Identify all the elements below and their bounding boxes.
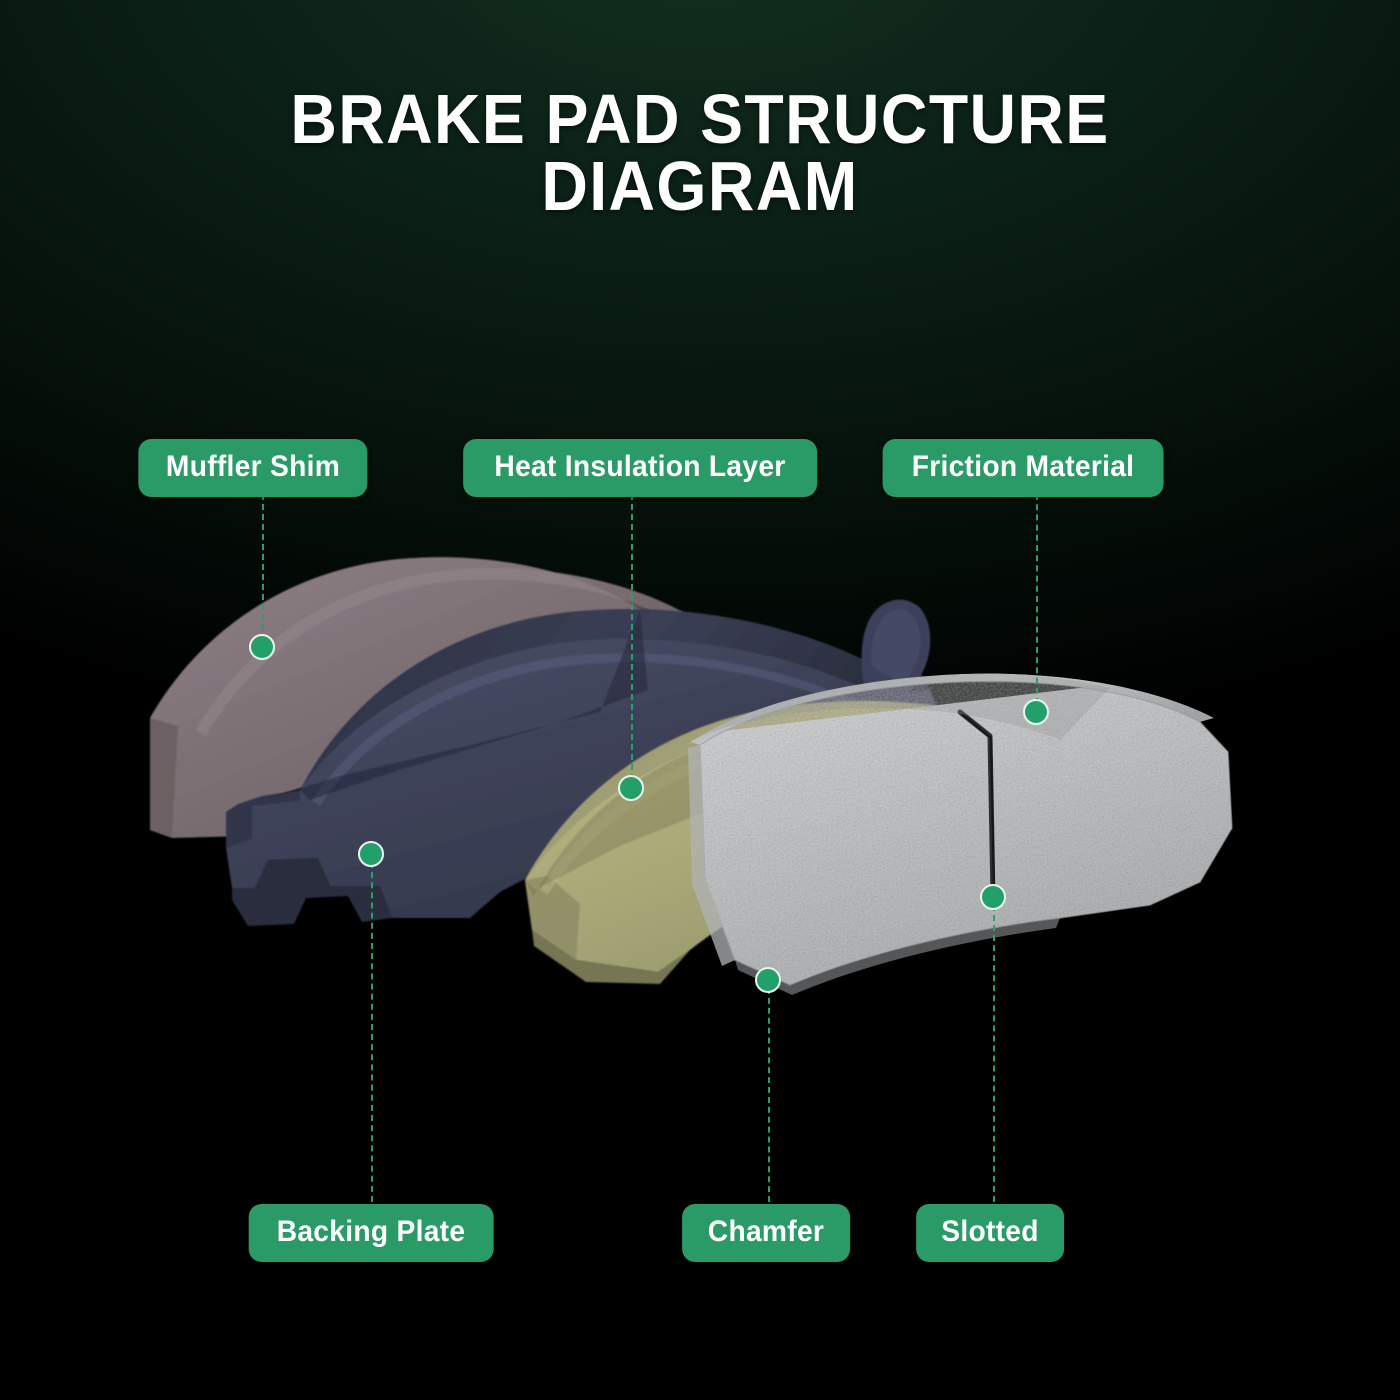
label-backing-plate[interactable]: Backing Plate — [249, 1204, 494, 1262]
label-text-friction-material: Friction Material — [912, 452, 1135, 482]
connector-friction-material — [1036, 494, 1038, 704]
title-line-1: BRAKE PAD STRUCTURE — [56, 86, 1344, 153]
page-title: BRAKE PAD STRUCTURE DIAGRAM — [0, 86, 1400, 219]
label-heat-insulation-layer[interactable]: Heat Insulation Layer — [463, 439, 817, 497]
callout-dot-heat-insulation-layer[interactable] — [618, 775, 644, 801]
connector-backing-plate — [371, 862, 373, 1202]
brake-pad-structure-diagram: BRAKE PAD STRUCTURE DIAGRAM — [0, 0, 1400, 1400]
callout-dot-friction-material[interactable] — [1023, 699, 1049, 725]
callout-dot-muffler-shim[interactable] — [249, 634, 275, 660]
label-muffler-shim[interactable]: Muffler Shim — [138, 439, 367, 497]
connector-muffler-shim — [262, 494, 264, 640]
connector-slotted — [993, 905, 995, 1202]
callout-dot-backing-plate[interactable] — [358, 841, 384, 867]
label-slotted[interactable]: Slotted — [916, 1204, 1064, 1262]
label-text-heat-insulation-layer: Heat Insulation Layer — [494, 452, 785, 482]
label-text-chamfer: Chamfer — [708, 1217, 824, 1247]
label-text-backing-plate: Backing Plate — [277, 1217, 466, 1247]
connector-heat-insulation-layer — [631, 494, 633, 780]
callout-dot-chamfer[interactable] — [755, 967, 781, 993]
title-line-2: DIAGRAM — [56, 153, 1344, 220]
callout-dot-slotted[interactable] — [980, 884, 1006, 910]
label-chamfer[interactable]: Chamfer — [682, 1204, 850, 1262]
label-text-slotted: Slotted — [941, 1217, 1039, 1247]
label-text-muffler-shim: Muffler Shim — [166, 452, 340, 482]
label-friction-material[interactable]: Friction Material — [883, 439, 1164, 497]
connector-chamfer — [768, 988, 770, 1202]
